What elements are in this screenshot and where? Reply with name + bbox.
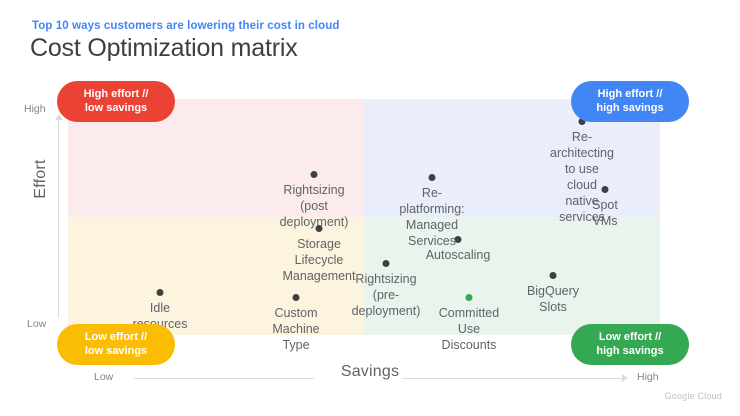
- data-point-label: Autoscaling: [426, 247, 491, 263]
- data-point-dot-icon: [550, 272, 557, 279]
- x-axis-tick-low: Low: [94, 371, 113, 383]
- y-axis-tick-low: Low: [27, 318, 46, 330]
- brand-footer: Google Cloud: [665, 391, 722, 401]
- badge-low-effort-high-savings: Low effort // high savings: [571, 324, 689, 365]
- data-point-dot-icon: [316, 225, 323, 232]
- data-point-label: Committed Use Discounts: [439, 305, 499, 353]
- data-point-label: Storage Lifecycle Management: [283, 236, 356, 284]
- data-point-dot-icon: [455, 236, 462, 243]
- x-axis-line-right: [402, 378, 624, 379]
- data-point-dot-icon: [383, 260, 390, 267]
- y-axis-label: Effort: [32, 134, 50, 224]
- data-point-dot-icon: [602, 186, 609, 193]
- data-point-label: Rightsizing (pre-deployment): [352, 271, 421, 319]
- x-axis-arrow-icon: [622, 374, 628, 382]
- data-point-dot-icon: [429, 174, 436, 181]
- data-point-dot-icon: [293, 294, 300, 301]
- x-axis-tick-high: High: [637, 371, 659, 383]
- data-point-dot-icon: [466, 294, 473, 301]
- data-point-dot-icon: [157, 289, 164, 296]
- data-point-label: Spot VMs: [592, 197, 618, 229]
- page-title: Cost Optimization matrix: [30, 34, 298, 63]
- data-point-label: Custom Machine Type: [272, 305, 319, 353]
- y-axis-tick-high: High: [24, 103, 46, 115]
- badge-high-effort-low-savings: High effort // low savings: [57, 81, 175, 122]
- badge-high-effort-high-savings: High effort // high savings: [571, 81, 689, 122]
- y-axis-line: [58, 118, 59, 318]
- data-point-label: Rightsizing (post deployment): [280, 182, 349, 230]
- data-point-dot-icon: [311, 171, 318, 178]
- slide-canvas: Top 10 ways customers are lowering their…: [0, 0, 740, 416]
- badge-low-effort-low-savings: Low effort // low savings: [57, 324, 175, 365]
- data-point-label: BigQuery Slots: [527, 283, 579, 315]
- x-axis-line-left: [134, 378, 314, 379]
- slide-eyebrow: Top 10 ways customers are lowering their…: [32, 20, 339, 32]
